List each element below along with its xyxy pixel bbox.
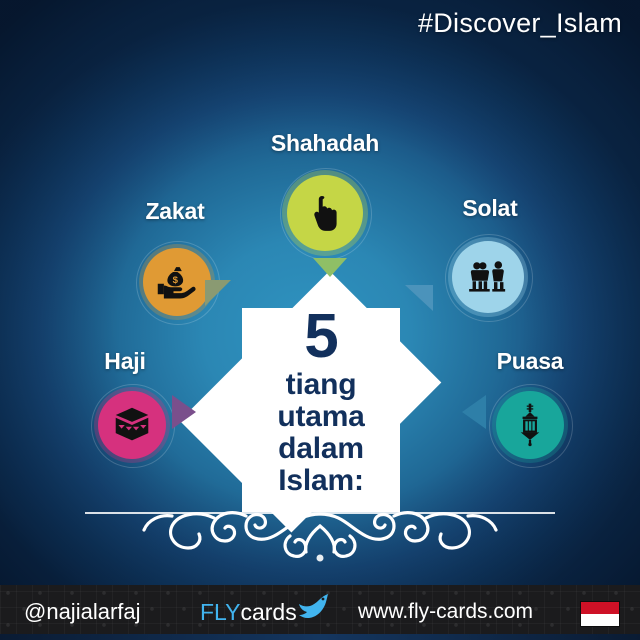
shahadah-pointer <box>313 258 347 277</box>
pillar-label-haji: Haji <box>80 348 170 375</box>
solat-icon-circle[interactable] <box>452 241 524 313</box>
footer-brand[interactable]: FLYcards <box>200 599 297 626</box>
center-line-3: dalam <box>228 434 414 464</box>
footer-accent-strip <box>0 634 640 640</box>
pointing-finger-icon <box>308 193 342 233</box>
puasa-pointer <box>462 395 486 429</box>
zakat-pointer <box>205 280 231 306</box>
brand-first: FLY <box>200 599 240 625</box>
kaaba-icon <box>112 406 152 444</box>
hashtag-title: #Discover_Islam <box>418 8 622 39</box>
indonesia-flag-icon <box>580 601 620 627</box>
center-line-1: tiang <box>228 370 414 400</box>
zakat-icon-circle[interactable]: $ <box>143 248 211 316</box>
infographic-canvas: #Discover_Islam 5 tiang utama dalam Isla… <box>0 0 640 640</box>
pillar-node-zakat[interactable]: Zakat $ <box>110 198 260 338</box>
flag-white-band <box>581 614 619 626</box>
brand-second: cards <box>240 599 296 625</box>
pillar-node-solat[interactable]: Solat <box>400 195 550 340</box>
puasa-icon-circle[interactable] <box>496 391 564 459</box>
footer-handle[interactable]: @najialarfaj <box>24 599 141 625</box>
footer-bar: @najialarfaj FLYcards www.fly-cards.com <box>0 585 640 640</box>
pillar-node-haji[interactable]: Haji <box>72 348 222 468</box>
pillar-node-puasa[interactable]: Puasa <box>430 348 595 468</box>
flag-red-band <box>581 602 619 614</box>
lantern-icon <box>517 403 543 447</box>
pillar-node-shahadah[interactable]: Shahadah <box>240 130 410 300</box>
pillar-label-zakat: Zakat <box>110 198 240 225</box>
center-line-4: Islam: <box>228 466 414 496</box>
footer-website[interactable]: www.fly-cards.com <box>358 600 533 624</box>
hand-money-bag-icon: $ <box>156 264 198 300</box>
pillar-label-shahadah: Shahadah <box>240 130 410 157</box>
pillar-label-solat: Solat <box>430 195 550 222</box>
bird-icon <box>297 592 331 627</box>
pillar-label-puasa: Puasa <box>470 348 590 375</box>
praying-people-icon <box>467 259 509 295</box>
solat-pointer <box>405 285 433 311</box>
shahadah-icon-circle[interactable] <box>287 175 363 251</box>
svg-text:$: $ <box>173 275 179 286</box>
haji-pointer <box>172 395 196 429</box>
center-line-2: utama <box>228 402 414 432</box>
haji-icon-circle[interactable] <box>98 391 166 459</box>
